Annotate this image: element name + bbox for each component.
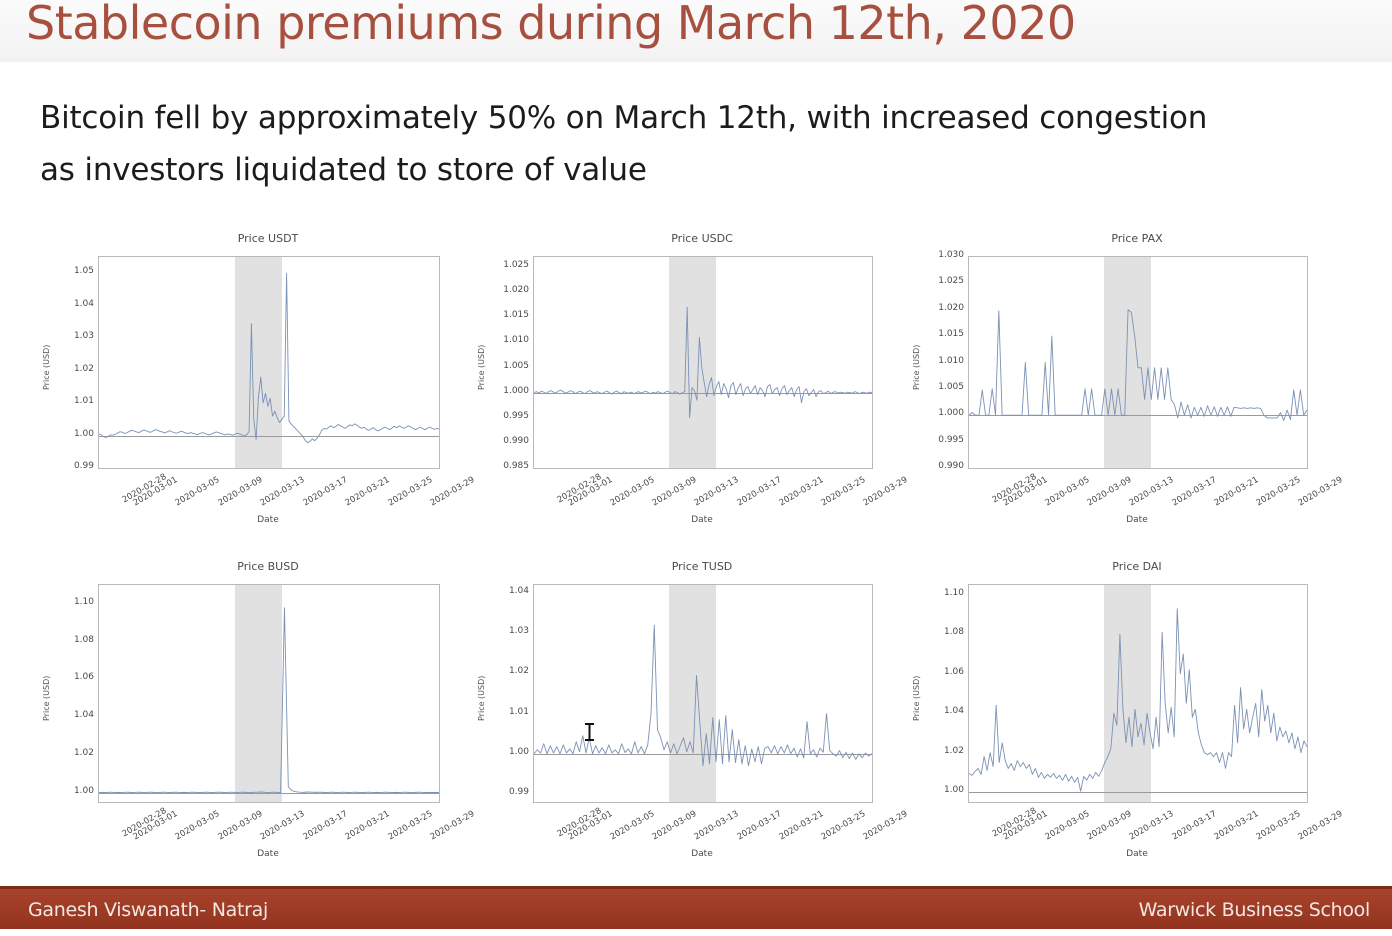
x-axis-tick: 2020-03-05: [174, 475, 222, 508]
x-axis-tick: 2020-03-13: [693, 809, 741, 842]
y-axis-tick: 1.06: [922, 667, 964, 677]
price-series-line: [969, 257, 1307, 468]
y-axis-tick: 1.025: [922, 276, 964, 286]
x-axis-tick: 2020-03-09: [1086, 809, 1134, 842]
x-axis-tick: 2020-03-29: [1297, 475, 1345, 508]
chart-panel-price-busd: Price BUSDPrice (USD)1.101.081.061.041.0…: [30, 560, 448, 891]
x-axis-label: Date: [968, 849, 1306, 859]
price-series-line: [969, 585, 1307, 802]
x-axis-tick: 2020-03-25: [1255, 809, 1303, 842]
footer-bar: Ganesh Viswanath- Natraj Warwick Busines…: [0, 889, 1392, 929]
y-axis-tick: 0.995: [487, 411, 529, 421]
x-axis-tick: 2020-03-21: [1212, 475, 1260, 508]
y-axis-tick: 1.030: [922, 250, 964, 260]
y-axis-tick: 1.10: [922, 588, 964, 598]
y-axis-tick: 1.00: [922, 785, 964, 795]
y-axis-tick: 1.01: [487, 707, 529, 717]
x-axis-label: Date: [533, 849, 871, 859]
x-axis-tick: 2020-03-25: [820, 475, 868, 508]
y-axis-tick: 1.03: [487, 626, 529, 636]
y-axis-tick: 1.03: [52, 331, 94, 341]
x-axis-tick: 2020-03-21: [344, 809, 392, 842]
chart-panel-price-dai: Price DAIPrice (USD)1.101.081.061.041.02…: [900, 560, 1316, 891]
y-axis-label: Price (USD): [912, 675, 921, 720]
price-series-line: [99, 585, 439, 802]
slide-body-text: Bitcoin fell by approximately 50% on Mar…: [40, 92, 1240, 196]
plot-area: [98, 256, 440, 469]
y-axis-tick: 1.02: [52, 748, 94, 758]
x-axis-tick: 2020-03-09: [216, 809, 264, 842]
slide-bottom-edge: [0, 929, 1392, 936]
x-axis-tick: 2020-03-09: [651, 475, 699, 508]
x-axis-tick: 2020-03-21: [777, 809, 825, 842]
y-axis-tick: 1.025: [487, 260, 529, 270]
x-axis-tick: 2020-03-29: [1297, 809, 1345, 842]
y-axis-tick: 1.00: [487, 747, 529, 757]
x-axis-tick: 2020-03-17: [1170, 475, 1218, 508]
y-axis-tick: 1.005: [922, 382, 964, 392]
y-axis-tick: 1.015: [922, 329, 964, 339]
x-axis-tick: 2020-03-13: [259, 475, 307, 508]
text-ibeam-cursor: [585, 722, 594, 742]
y-axis-tick: 1.00: [52, 429, 94, 439]
y-axis-tick: 1.020: [487, 285, 529, 295]
y-axis-tick: 1.020: [922, 303, 964, 313]
x-axis-tick: 2020-03-13: [1128, 809, 1176, 842]
chart-title: Price TUSD: [533, 560, 871, 573]
y-axis-tick: 1.005: [487, 361, 529, 371]
chart-panel-price-usdc: Price USDCPrice (USD)1.0251.0201.0151.01…: [465, 232, 881, 557]
x-axis-tick: 2020-03-17: [735, 475, 783, 508]
x-axis-tick: 2020-03-17: [735, 809, 783, 842]
y-axis-label: Price (USD): [42, 675, 51, 720]
x-axis-tick: 2020-03-21: [777, 475, 825, 508]
y-axis-tick: 1.010: [922, 356, 964, 366]
y-axis-tick: 1.010: [487, 335, 529, 345]
y-axis-tick: 1.08: [922, 627, 964, 637]
x-axis-tick: 2020-03-05: [1043, 809, 1091, 842]
chart-panel-price-tusd: Price TUSDPrice (USD)1.041.031.021.011.0…: [465, 560, 881, 891]
y-axis-tick: 1.00: [52, 786, 94, 796]
y-axis-tick: 1.08: [52, 635, 94, 645]
x-axis-tick: 2020-03-25: [386, 809, 434, 842]
y-axis-tick: 1.04: [52, 299, 94, 309]
y-axis-tick: 0.985: [487, 461, 529, 471]
y-axis-tick: 0.990: [922, 461, 964, 471]
y-axis-tick: 1.02: [52, 364, 94, 374]
chart-title: Price DAI: [968, 560, 1306, 573]
y-axis-tick: 1.000: [487, 386, 529, 396]
chart-grid: Price USDTPrice (USD)1.051.041.031.021.0…: [0, 232, 1392, 882]
x-axis-tick: 2020-03-25: [386, 475, 434, 508]
chart-title: Price USDT: [98, 232, 438, 245]
plot-area: [533, 584, 873, 803]
x-axis-tick: 2020-03-09: [216, 475, 264, 508]
price-series-line: [99, 257, 439, 468]
y-axis-tick: 1.000: [922, 408, 964, 418]
footer-institution: Warwick Business School: [1139, 899, 1370, 921]
y-axis-tick: 1.04: [52, 710, 94, 720]
chart-title: Price PAX: [968, 232, 1306, 245]
price-series-line: [534, 257, 872, 468]
footer-author: Ganesh Viswanath- Natraj: [28, 899, 268, 921]
x-axis-tick: 2020-03-17: [1170, 809, 1218, 842]
y-axis-tick: 0.990: [487, 436, 529, 446]
x-axis-tick: 2020-03-05: [1043, 475, 1091, 508]
x-axis-tick: 2020-03-13: [259, 809, 307, 842]
x-axis-tick: 2020-03-25: [1255, 475, 1303, 508]
x-axis-tick: 2020-03-25: [820, 809, 868, 842]
x-axis-label: Date: [98, 515, 438, 525]
x-axis-tick: 2020-03-05: [174, 809, 222, 842]
plot-area: [968, 256, 1308, 469]
x-axis-label: Date: [968, 515, 1306, 525]
y-axis-tick: 1.01: [52, 396, 94, 406]
x-axis-tick: 2020-03-05: [608, 475, 656, 508]
x-axis-tick: 2020-03-13: [1128, 475, 1176, 508]
y-axis-tick: 1.06: [52, 672, 94, 682]
x-axis-label: Date: [533, 515, 871, 525]
x-axis-tick: 2020-03-09: [1086, 475, 1134, 508]
y-axis-tick: 1.04: [922, 706, 964, 716]
y-axis-tick: 1.02: [922, 746, 964, 756]
y-axis-label: Price (USD): [912, 344, 921, 389]
y-axis-tick: 1.02: [487, 666, 529, 676]
chart-title: Price USDC: [533, 232, 871, 245]
y-axis-tick: 0.99: [52, 461, 94, 471]
y-axis-tick: 0.99: [487, 787, 529, 797]
x-axis-tick: 2020-03-21: [1212, 809, 1260, 842]
y-axis-label: Price (USD): [477, 344, 486, 389]
plot-area: [968, 584, 1308, 803]
chart-title: Price BUSD: [98, 560, 438, 573]
chart-panel-price-usdt: Price USDTPrice (USD)1.051.041.031.021.0…: [30, 232, 448, 557]
y-axis-tick: 0.995: [922, 435, 964, 445]
x-axis-tick: 2020-03-13: [693, 475, 741, 508]
y-axis-tick: 1.10: [52, 597, 94, 607]
x-axis-tick: 2020-03-17: [301, 809, 349, 842]
price-series-line: [534, 585, 872, 802]
y-axis-tick: 1.05: [52, 266, 94, 276]
plot-area: [98, 584, 440, 803]
chart-panel-price-pax: Price PAXPrice (USD)1.0301.0251.0201.015…: [900, 232, 1316, 557]
y-axis-tick: 1.04: [487, 586, 529, 596]
x-axis-tick: 2020-03-17: [301, 475, 349, 508]
y-axis-label: Price (USD): [477, 675, 486, 720]
x-axis-tick: 2020-03-09: [651, 809, 699, 842]
y-axis-tick: 1.015: [487, 310, 529, 320]
x-axis-tick: 2020-03-05: [608, 809, 656, 842]
page-title: Stablecoin premiums during March 12th, 2…: [26, 0, 1076, 50]
plot-area: [533, 256, 873, 469]
x-axis-label: Date: [98, 849, 438, 859]
x-axis-tick: 2020-03-21: [344, 475, 392, 508]
y-axis-label: Price (USD): [42, 344, 51, 389]
